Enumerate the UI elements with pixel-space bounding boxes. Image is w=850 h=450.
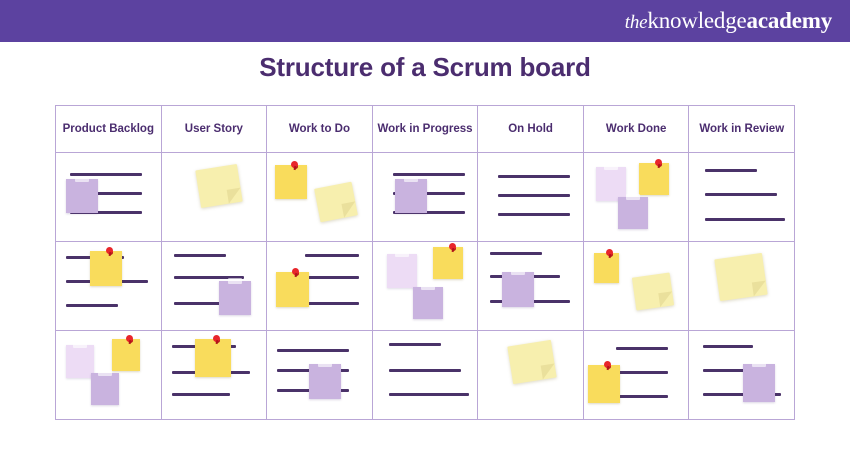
cell-on-hold-2[interactable] (478, 242, 584, 330)
sticky-note-soft-yellow[interactable] (632, 273, 674, 311)
note-tape-tab (75, 176, 89, 182)
sticky-note-soft-yellow[interactable] (195, 164, 242, 208)
cell-user-story-1[interactable] (162, 153, 268, 241)
column-header-work-in-progress: Work in Progress (373, 106, 479, 152)
column-header-work-to-do: Work to Do (267, 106, 373, 152)
task-line (498, 175, 570, 178)
sticky-note-pale-purple[interactable] (66, 345, 94, 378)
task-line (174, 254, 226, 257)
cell-work-in-progress-1[interactable] (373, 153, 479, 241)
pin-icon (292, 268, 299, 275)
logo-word-knowledge: knowledge (647, 8, 746, 33)
task-line (172, 393, 230, 396)
pin-icon (606, 249, 613, 256)
column-header-on-hold: On Hold (478, 106, 584, 152)
board-row-2 (56, 242, 794, 331)
sticky-note-gold[interactable] (275, 165, 307, 199)
sticky-note-lavender[interactable] (502, 272, 534, 307)
scrum-board: Product Backlog User Story Work to Do Wo… (55, 105, 795, 420)
sticky-note-gold[interactable] (639, 163, 669, 195)
sticky-note-soft-yellow[interactable] (508, 340, 557, 384)
sticky-note-lavender[interactable] (219, 281, 251, 315)
task-line (389, 343, 441, 346)
cell-work-to-do-1[interactable] (267, 153, 373, 241)
note-tape-tab (73, 342, 87, 348)
pin-icon (291, 161, 298, 168)
pin-icon (604, 361, 611, 368)
cell-work-in-progress-2[interactable] (373, 242, 479, 330)
sticky-note-pale-purple[interactable] (596, 167, 626, 201)
note-tape-tab (404, 176, 418, 182)
sticky-note-gold[interactable] (195, 339, 231, 377)
sticky-note-lavender[interactable] (743, 364, 775, 402)
board-row-1 (56, 153, 794, 242)
note-tape-tab (604, 164, 618, 170)
cell-work-done-2[interactable] (584, 242, 690, 330)
column-header-work-done: Work Done (584, 106, 690, 152)
cell-work-done-3[interactable] (584, 331, 690, 419)
cell-work-in-review-1[interactable] (689, 153, 794, 241)
task-line (498, 194, 570, 197)
task-line (389, 369, 461, 372)
pin-icon (655, 159, 662, 166)
cell-on-hold-3[interactable] (478, 331, 584, 419)
task-line (66, 304, 118, 307)
task-line (616, 347, 668, 350)
cell-work-in-review-3[interactable] (689, 331, 794, 419)
cell-on-hold-1[interactable] (478, 153, 584, 241)
cell-work-done-1[interactable] (584, 153, 690, 241)
sticky-note-lavender[interactable] (66, 179, 98, 213)
task-line (616, 395, 668, 398)
sticky-note-lavender[interactable] (395, 179, 427, 213)
pin-icon (449, 243, 456, 250)
task-line (703, 345, 753, 348)
note-tape-tab (395, 251, 409, 257)
note-tape-tab (421, 284, 435, 290)
sticky-note-soft-yellow[interactable] (314, 182, 358, 223)
cell-user-story-3[interactable] (162, 331, 268, 419)
board-row-3 (56, 331, 794, 419)
cell-product-backlog-1[interactable] (56, 153, 162, 241)
sticky-note-gold[interactable] (90, 251, 122, 286)
column-header-work-in-review: Work in Review (689, 106, 794, 152)
sticky-note-gold[interactable] (594, 253, 619, 283)
note-tape-tab (98, 370, 112, 376)
sticky-note-pale-purple[interactable] (387, 254, 417, 288)
cell-work-to-do-3[interactable] (267, 331, 373, 419)
sticky-note-lavender[interactable] (91, 373, 119, 405)
logo-word-academy: academy (747, 8, 832, 33)
knowledge-academy-logo: theknowledgeacademy (625, 8, 850, 34)
cell-work-to-do-2[interactable] (267, 242, 373, 330)
board-header-row: Product Backlog User Story Work to Do Wo… (56, 106, 794, 153)
task-line (705, 193, 777, 196)
logo-word-the: the (625, 12, 648, 33)
sticky-note-lavender[interactable] (618, 197, 648, 229)
note-tape-tab (318, 361, 332, 367)
note-tape-tab (511, 269, 525, 275)
page-title: Structure of a Scrum board (0, 52, 850, 83)
task-line (305, 276, 359, 279)
cell-work-in-progress-3[interactable] (373, 331, 479, 419)
cell-work-in-review-2[interactable] (689, 242, 794, 330)
task-line (277, 349, 349, 352)
task-line (616, 371, 668, 374)
sticky-note-lavender[interactable] (413, 287, 443, 319)
sticky-note-gold[interactable] (588, 365, 620, 403)
cell-product-backlog-3[interactable] (56, 331, 162, 419)
task-line (305, 254, 359, 257)
column-header-product-backlog: Product Backlog (56, 106, 162, 152)
task-line (705, 218, 785, 221)
pin-icon (106, 247, 113, 254)
task-line (490, 252, 542, 255)
note-tape-tab (626, 194, 640, 200)
cell-product-backlog-2[interactable] (56, 242, 162, 330)
pin-icon (213, 335, 220, 342)
task-line (498, 213, 570, 216)
task-line (705, 169, 757, 172)
note-tape-tab (228, 278, 242, 284)
task-line (305, 302, 359, 305)
sticky-note-gold[interactable] (112, 339, 140, 371)
brand-bar: theknowledgeacademy (0, 0, 850, 42)
cell-user-story-2[interactable] (162, 242, 268, 330)
task-line (389, 393, 469, 396)
sticky-note-gold[interactable] (433, 247, 463, 279)
sticky-note-soft-yellow[interactable] (715, 253, 768, 301)
pin-icon (126, 335, 133, 342)
column-header-user-story: User Story (162, 106, 268, 152)
sticky-note-gold[interactable] (276, 272, 309, 307)
sticky-note-lavender[interactable] (309, 364, 341, 399)
note-tape-tab (752, 361, 766, 367)
